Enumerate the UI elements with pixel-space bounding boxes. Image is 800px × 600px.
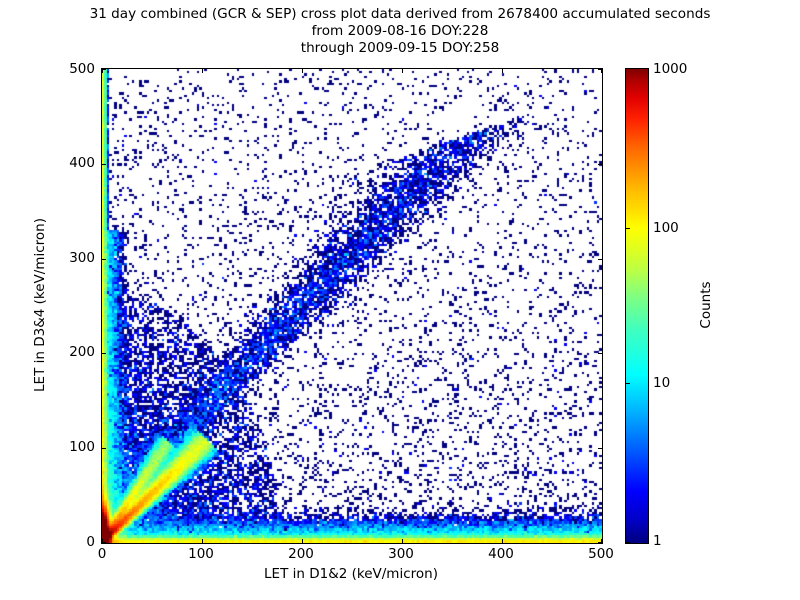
colorbar-tick-1 xyxy=(625,542,630,543)
y-tick-100 xyxy=(102,448,106,449)
plot-area xyxy=(101,68,603,544)
figure-canvas: 31 day combined (GCR & SEP) cross plot d… xyxy=(0,0,800,600)
colorbar-label: Counts xyxy=(698,281,714,328)
y-tick-200 xyxy=(102,353,106,354)
x-tick-300 xyxy=(402,539,403,543)
x-ticklabel-400: 400 xyxy=(488,546,514,562)
y-ticklabel-200: 200 xyxy=(69,344,95,360)
x-ticklabel-0: 0 xyxy=(98,546,107,562)
chart-title: 31 day combined (GCR & SEP) cross plot d… xyxy=(0,6,800,57)
x-axis-label: LET in D1&2 (keV/micron) xyxy=(101,566,601,582)
y-tick-right-200 xyxy=(598,353,602,354)
y-tick-400 xyxy=(102,164,106,165)
y-ticklabel-400: 400 xyxy=(69,155,95,171)
x-ticklabel-100: 100 xyxy=(188,546,214,562)
y-ticklabel-300: 300 xyxy=(69,250,95,266)
colorbar-tick-10 xyxy=(625,383,630,384)
y-tick-right-400 xyxy=(598,164,602,165)
chart-title-line-2: from 2009-08-16 DOY:228 xyxy=(0,23,800,40)
x-tick-top-300 xyxy=(402,69,403,73)
y-tick-right-300 xyxy=(598,259,602,260)
x-tick-200 xyxy=(302,539,303,543)
scatter-density-plot xyxy=(102,69,602,543)
x-tick-400 xyxy=(502,539,503,543)
x-tick-top-200 xyxy=(302,69,303,73)
colorbar-gradient xyxy=(625,68,649,544)
y-tick-right-0 xyxy=(598,542,602,543)
x-ticklabel-300: 300 xyxy=(388,546,414,562)
chart-title-line-1: 31 day combined (GCR & SEP) cross plot d… xyxy=(0,6,800,23)
x-ticklabel-200: 200 xyxy=(288,546,314,562)
colorbar-ticklabel-1000: 1000 xyxy=(653,61,687,77)
y-tick-right-500 xyxy=(598,69,602,70)
y-ticklabel-0: 0 xyxy=(86,534,95,550)
y-tick-300 xyxy=(102,259,106,260)
y-tick-0 xyxy=(102,542,106,543)
x-tick-top-100 xyxy=(202,69,203,73)
y-axis-label: LET in D3&4 (keV/micron) xyxy=(32,218,48,392)
colorbar-tick-1000 xyxy=(625,68,630,69)
x-tick-top-400 xyxy=(502,69,503,73)
y-ticklabel-100: 100 xyxy=(69,439,95,455)
chart-title-line-3: through 2009-09-15 DOY:258 xyxy=(0,40,800,57)
colorbar-tick-100 xyxy=(625,228,630,229)
colorbar-ticklabel-100: 100 xyxy=(653,220,679,236)
colorbar-ticklabel-1: 1 xyxy=(653,533,662,549)
colorbar-ticklabel-10: 10 xyxy=(653,375,670,391)
x-tick-100 xyxy=(202,539,203,543)
y-tick-right-100 xyxy=(598,448,602,449)
y-tick-500 xyxy=(102,69,106,70)
x-ticklabel-500: 500 xyxy=(588,546,614,562)
y-ticklabel-500: 500 xyxy=(69,61,95,77)
